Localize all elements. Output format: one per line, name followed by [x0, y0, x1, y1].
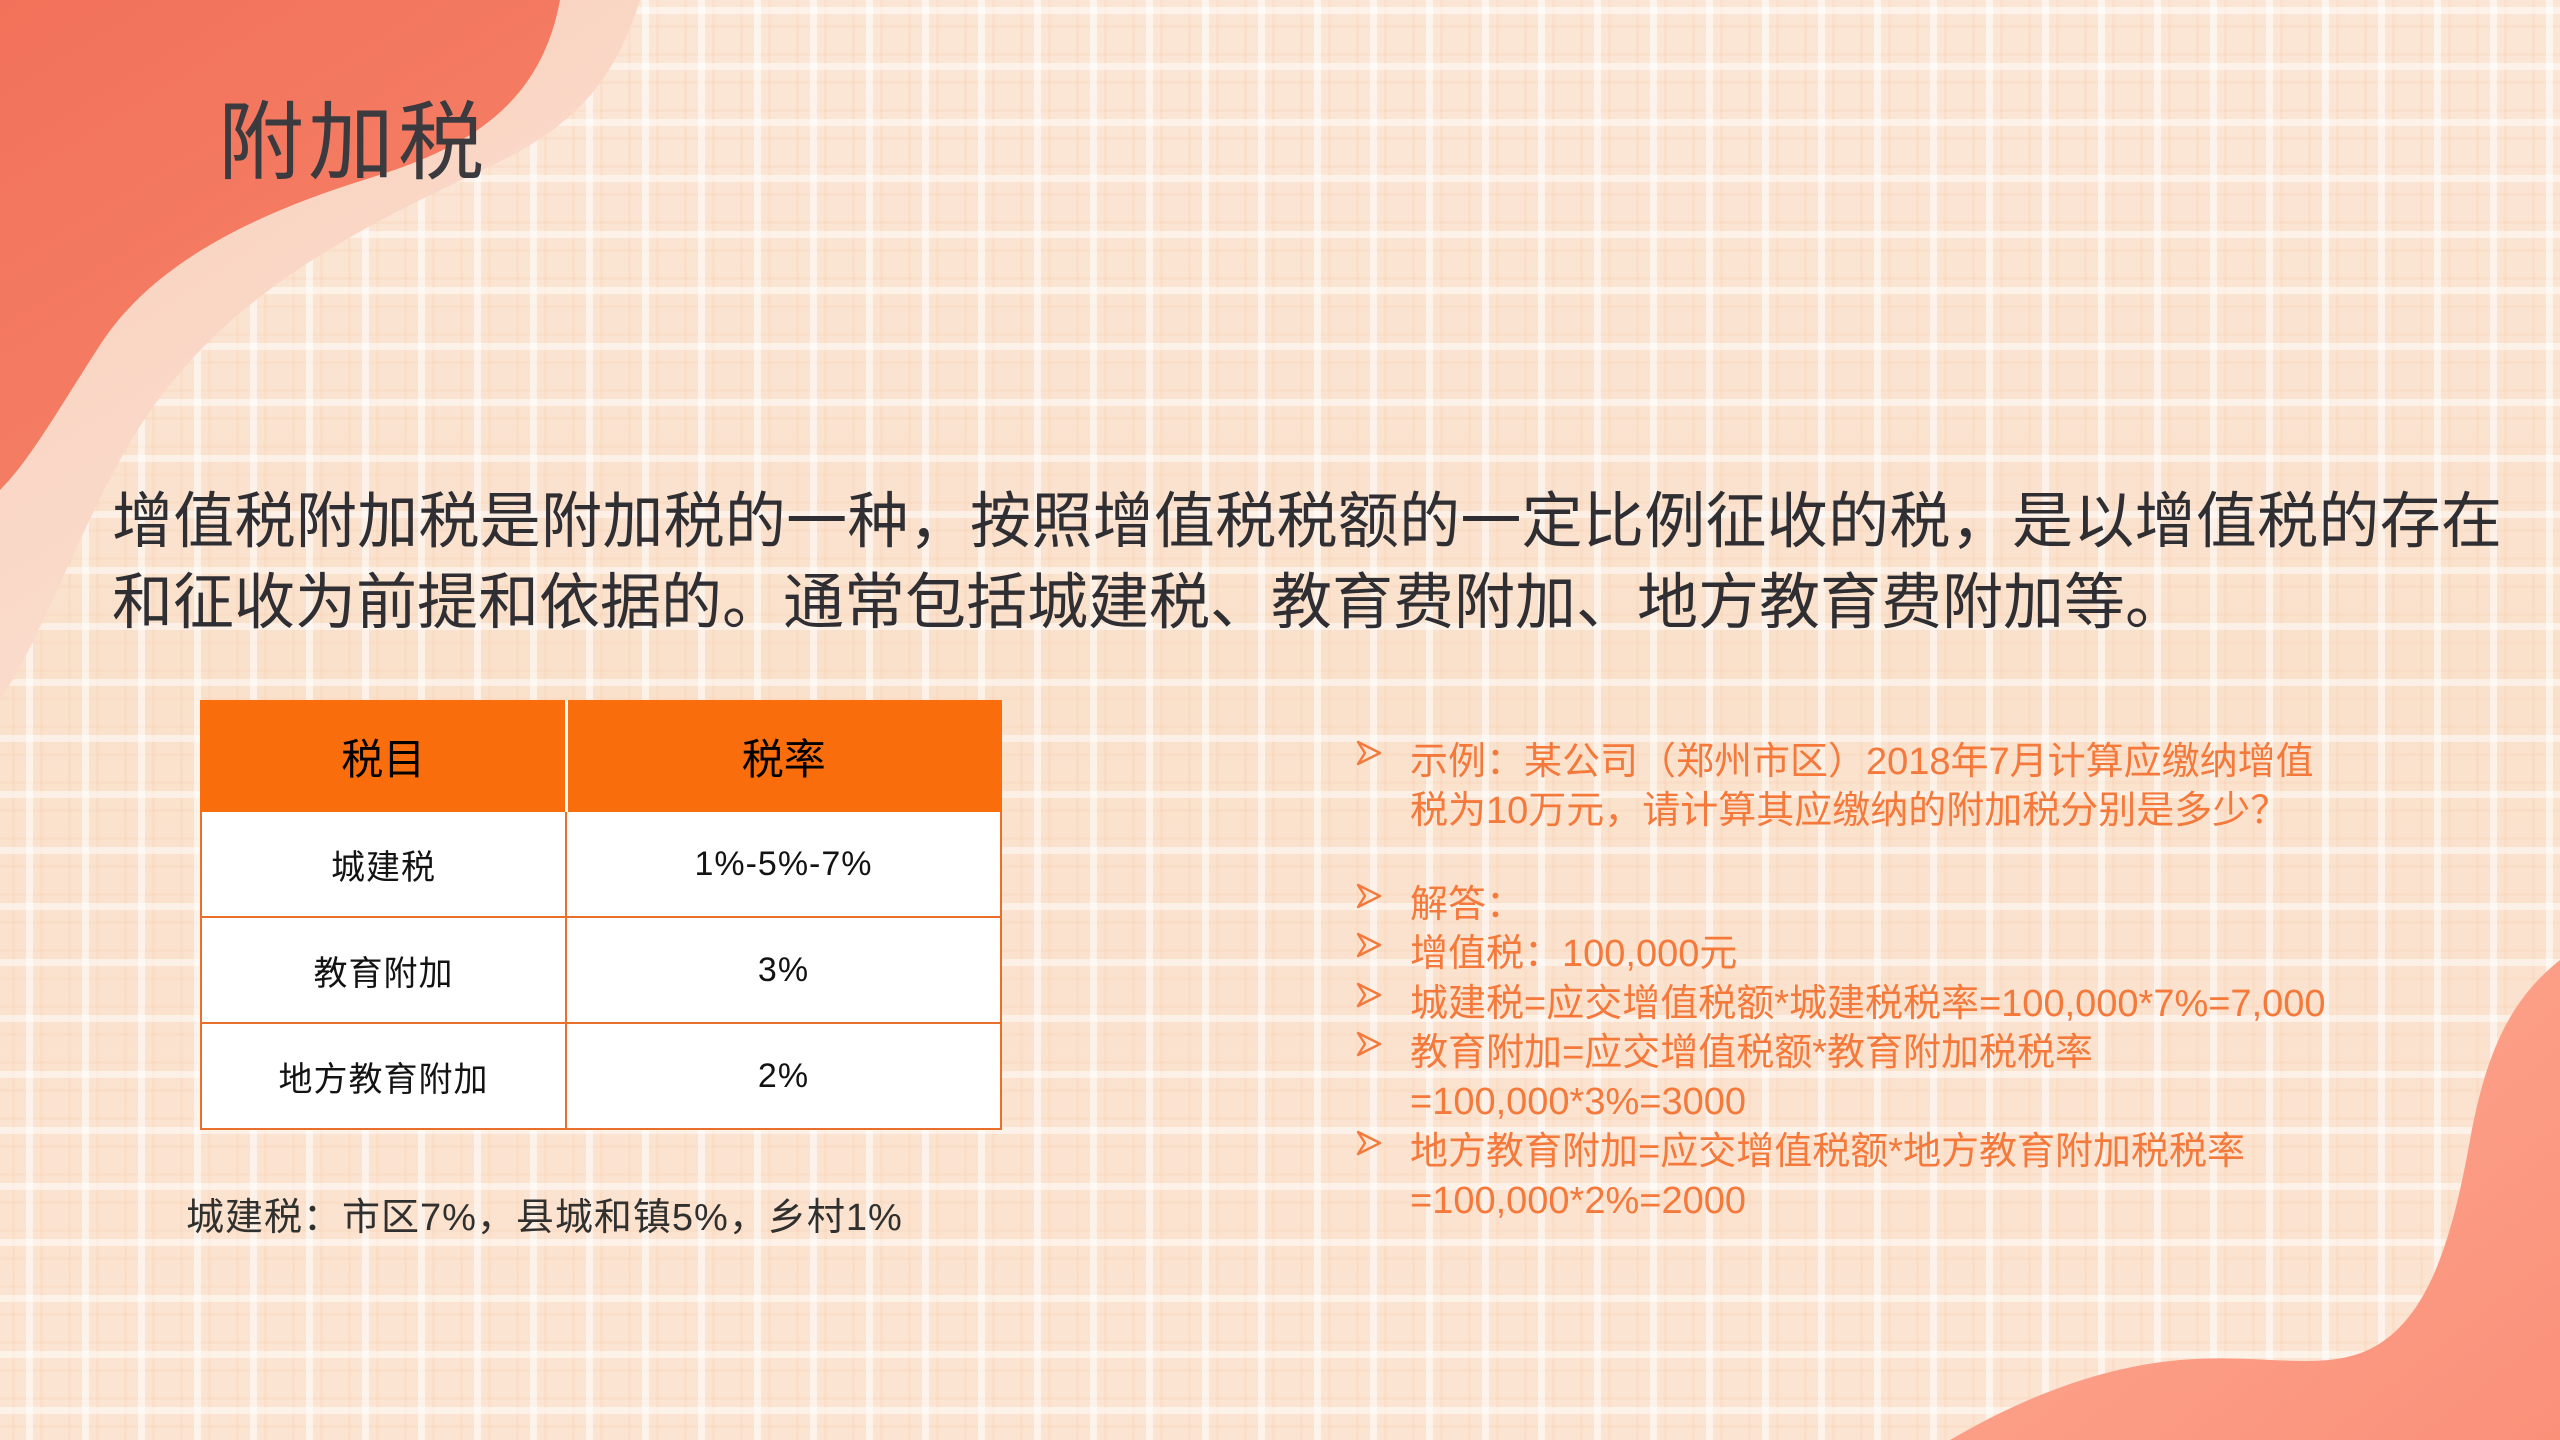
arrow-right-outline-icon: [1352, 1027, 1394, 1061]
example-panel: 示例：某公司（郑州市区）2018年7月计算应缴纳增值 税为10万元，请计算其应缴…: [1352, 738, 2472, 1227]
list-item: 增值税：100,000元: [1352, 930, 2472, 979]
table-cell-rate: 3%: [566, 917, 1001, 1023]
list-item-label: 城建税=应交增值税额*城建税税率=100,000*7%=7,000: [1410, 980, 2472, 1029]
page-title: 附加税: [218, 94, 488, 193]
table-note: 城建税：市区7%，县城和镇5%，乡村1%: [186, 1186, 903, 1241]
slide-content: 附加税 增值税附加税是附加税的一种，按照增值税税额的一定比例征收的税，是以增值税…: [0, 0, 2560, 1440]
bullet-group-example: 示例：某公司（郑州市区）2018年7月计算应缴纳增值 税为10万元，请计算其应缴…: [1352, 738, 2472, 837]
table-cell-rate: 2%: [566, 1023, 1001, 1129]
table-cell-rate: 1%-5%-7%: [566, 811, 1001, 917]
table-header-item: 税目: [201, 701, 566, 811]
table-row: 地方教育附加 2%: [201, 1023, 1001, 1129]
list-item-continuation: 税为10万元，请计算其应缴纳的附加税分别是多少？: [1410, 787, 2472, 836]
list-item-label: 解答：: [1410, 881, 2472, 930]
arrow-right-outline-icon: [1352, 1126, 1394, 1160]
arrow-right-outline-icon: [1352, 879, 1394, 913]
slide-root: 附加税 增值税附加税是附加税的一种，按照增值税税额的一定比例征收的税，是以增值税…: [0, 0, 2560, 1440]
table-header-rate: 税率: [566, 701, 1001, 811]
table-cell-item: 城建税: [201, 811, 566, 917]
list-item: 城建税=应交增值税额*城建税税率=100,000*7%=7,000: [1352, 980, 2472, 1029]
arrow-right-outline-icon: [1352, 928, 1394, 962]
list-item-label: 示例：某公司（郑州市区）2018年7月计算应缴纳增值: [1410, 738, 2472, 787]
list-item: 示例：某公司（郑州市区）2018年7月计算应缴纳增值 税为10万元，请计算其应缴…: [1352, 738, 2472, 837]
lead-paragraph: 增值税附加税是附加税的一种，按照增值税税额的一定比例征收的税，是以增值税的存在和…: [112, 481, 2502, 643]
arrow-right-outline-icon: [1352, 978, 1394, 1012]
arrow-right-outline-icon: [1352, 736, 1394, 770]
list-item: 地方教育附加=应交增值税额*地方教育附加税税率 =100,000*2%=2000: [1352, 1128, 2472, 1227]
list-item-continuation: =100,000*2%=2000: [1410, 1177, 2472, 1226]
table-header-row: 税目 税率: [201, 701, 1001, 811]
table-row: 城建税 1%-5%-7%: [201, 811, 1001, 917]
table-row: 教育附加 3%: [201, 917, 1001, 1023]
list-item-label: 增值税：100,000元: [1410, 930, 2472, 979]
table-cell-item: 教育附加: [201, 917, 566, 1023]
list-item-continuation: =100,000*3%=3000: [1410, 1078, 2472, 1127]
list-item: 解答：: [1352, 881, 2472, 930]
tax-rate-table: 税目 税率 城建税 1%-5%-7% 教育附加 3% 地方教育附加 2%: [200, 700, 1002, 1130]
bullet-group-solution: 解答： 增值税：100,000元 城: [1352, 881, 2472, 1227]
list-item: 教育附加=应交增值税额*教育附加税税率 =100,000*3%=3000: [1352, 1029, 2472, 1128]
table-cell-item: 地方教育附加: [201, 1023, 566, 1129]
list-item-label: 地方教育附加=应交增值税额*地方教育附加税税率: [1410, 1128, 2472, 1177]
list-item-label: 教育附加=应交增值税额*教育附加税税率: [1410, 1029, 2472, 1078]
